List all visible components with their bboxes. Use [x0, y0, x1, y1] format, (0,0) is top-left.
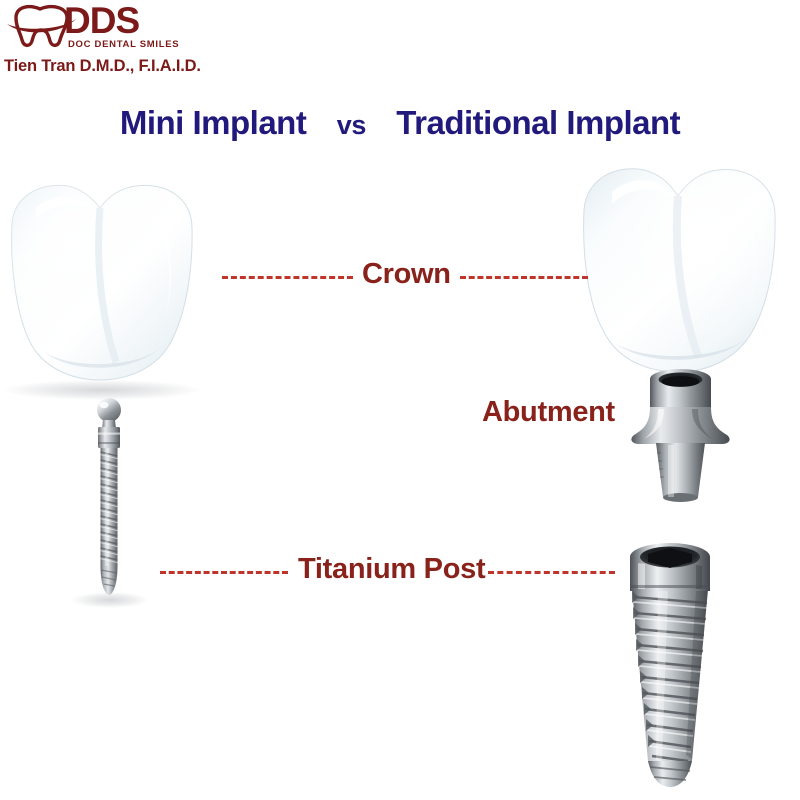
crown-leader-left — [222, 276, 353, 279]
practice-logo[interactable]: DDS DOC DENTAL SMILES Tien Tran D.M.D., … — [2, 0, 202, 82]
traditional-implant-post-figure — [608, 535, 732, 800]
traditional-implant-abutment-figure — [628, 363, 733, 503]
crown-leader-right — [460, 276, 588, 279]
logo-tagline-text: DOC DENTAL SMILES — [68, 39, 179, 50]
title-versus: vs — [337, 110, 366, 141]
label-titanium-post: Titanium Post — [298, 553, 485, 586]
titanium-post-leader-left — [160, 571, 288, 574]
mini-implant-post-figure — [78, 396, 140, 606]
logo-doctor-name: Tien Tran D.M.D., F.I.A.I.D. — [4, 57, 201, 76]
title-left-term: Mini Implant — [120, 104, 307, 142]
label-crown: Crown — [362, 258, 451, 291]
titanium-post-leader-right — [488, 571, 615, 574]
mini-implant-crown-figure — [0, 162, 206, 392]
page-title: Mini Implant vs Traditional Implant — [0, 104, 800, 142]
infographic-canvas: DDS DOC DENTAL SMILES Tien Tran D.M.D., … — [0, 0, 800, 800]
traditional-implant-crown-figure — [566, 148, 794, 383]
label-abutment: Abutment — [482, 396, 615, 429]
title-right-term: Traditional Implant — [396, 104, 680, 142]
logo-brand-text: DDS — [64, 2, 139, 40]
